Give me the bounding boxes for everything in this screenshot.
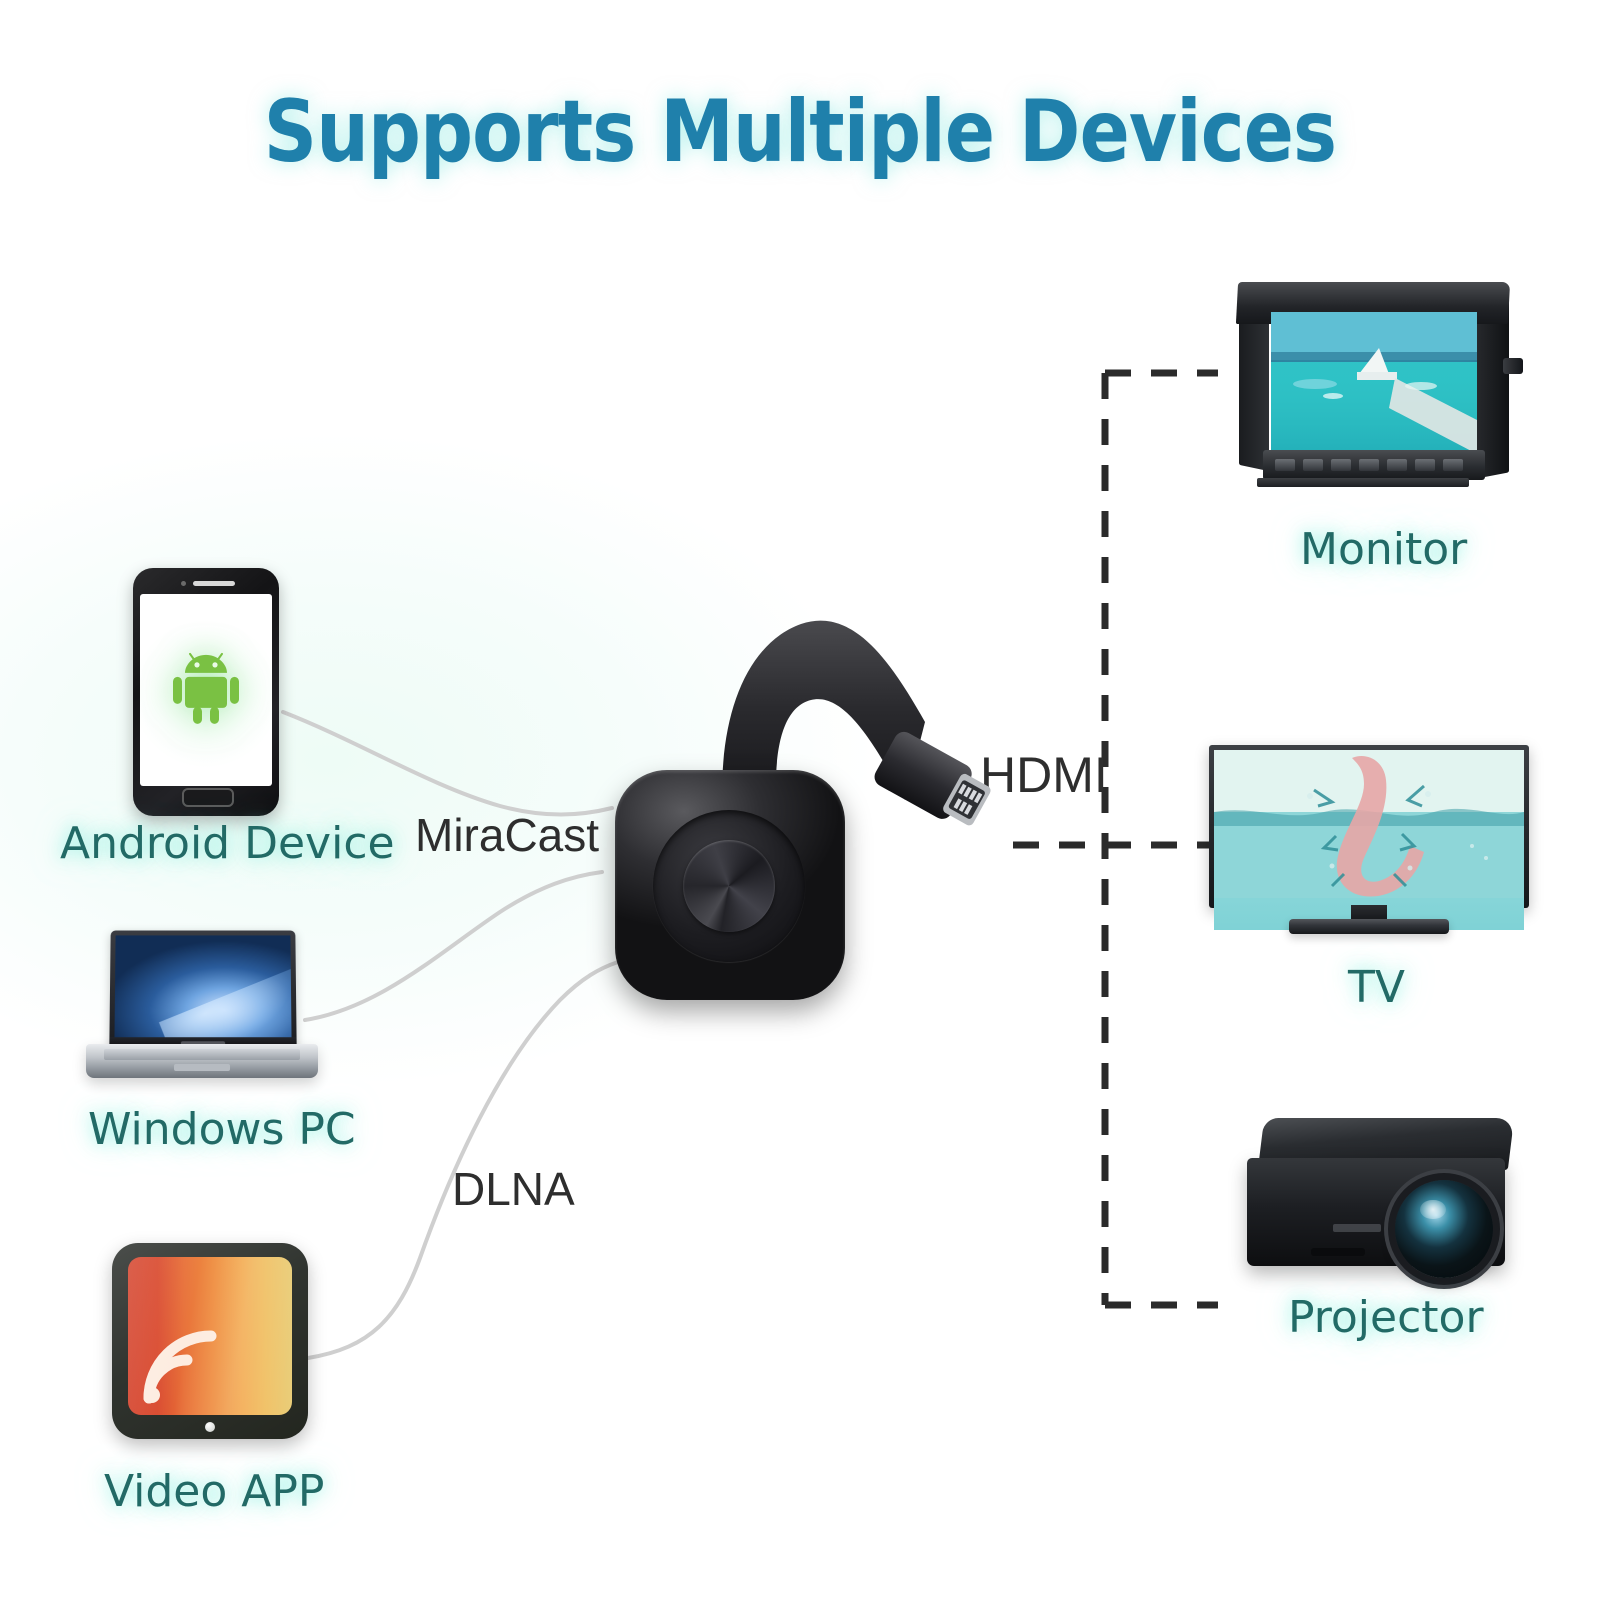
dongle-center-button[interactable] xyxy=(683,840,775,932)
link-videoapp-to-dongle xyxy=(308,962,618,1358)
laptop-wallpaper xyxy=(159,937,292,1038)
tv-screen xyxy=(1214,750,1524,930)
diagram-canvas: Supports Multiple Devices xyxy=(0,0,1600,1600)
flow-label-dlna: DLNA xyxy=(452,1162,575,1216)
monitor-button[interactable] xyxy=(1331,459,1351,471)
monitor-foot xyxy=(1257,478,1469,487)
label-windows-pc: Windows PC xyxy=(88,1104,356,1155)
tv-water-splash-image xyxy=(1214,750,1524,898)
video-app-icon xyxy=(112,1243,308,1439)
monitor-button-bar xyxy=(1263,450,1485,480)
link-windows-to-dongle xyxy=(305,872,602,1020)
cast-wifi-icon xyxy=(142,1327,220,1405)
monitor-side-knob[interactable] xyxy=(1503,358,1523,374)
monitor-screen xyxy=(1271,312,1477,454)
projector-brand-mark xyxy=(1333,1224,1381,1232)
phone-speaker xyxy=(193,581,235,586)
monitor-seascape-image xyxy=(1271,312,1477,454)
flow-label-miracast: MiraCast xyxy=(415,808,599,862)
projector-lens xyxy=(1395,1180,1493,1278)
link-android-to-dongle xyxy=(283,712,612,815)
monitor-button[interactable] xyxy=(1443,459,1463,471)
laptop-trackpad xyxy=(174,1064,230,1071)
laptop-base xyxy=(86,1044,318,1078)
wireless-display-dongle xyxy=(605,600,1035,1030)
android-robot-icon xyxy=(169,648,243,726)
page-title: Supports Multiple Devices xyxy=(112,82,1488,182)
monitor-button[interactable] xyxy=(1359,459,1379,471)
monitor-button[interactable] xyxy=(1387,459,1407,471)
tv-stand xyxy=(1289,919,1449,934)
car-monitor-icon xyxy=(1237,282,1509,504)
monitor-button[interactable] xyxy=(1415,459,1435,471)
laptop-icon xyxy=(82,930,322,1090)
projector-vent xyxy=(1311,1248,1365,1256)
phone-home-button xyxy=(182,788,234,807)
label-android-device: Android Device xyxy=(60,818,395,869)
android-phone-icon xyxy=(133,568,279,816)
label-monitor: Monitor xyxy=(1300,524,1467,575)
phone-screen xyxy=(140,594,272,786)
projector-icon xyxy=(1247,1118,1517,1278)
label-projector: Projector xyxy=(1288,1292,1484,1343)
video-app-screen xyxy=(128,1257,292,1415)
monitor-button[interactable] xyxy=(1303,459,1323,471)
label-tv: TV xyxy=(1348,962,1405,1013)
tv-icon xyxy=(1209,745,1529,940)
laptop-lid xyxy=(109,931,296,1049)
label-video-app: Video APP xyxy=(104,1466,324,1517)
video-app-home-button xyxy=(205,1422,215,1432)
monitor-button[interactable] xyxy=(1275,459,1295,471)
phone-camera-icon xyxy=(181,581,186,586)
laptop-screen xyxy=(114,935,291,1037)
laptop-keyboard xyxy=(104,1049,300,1060)
